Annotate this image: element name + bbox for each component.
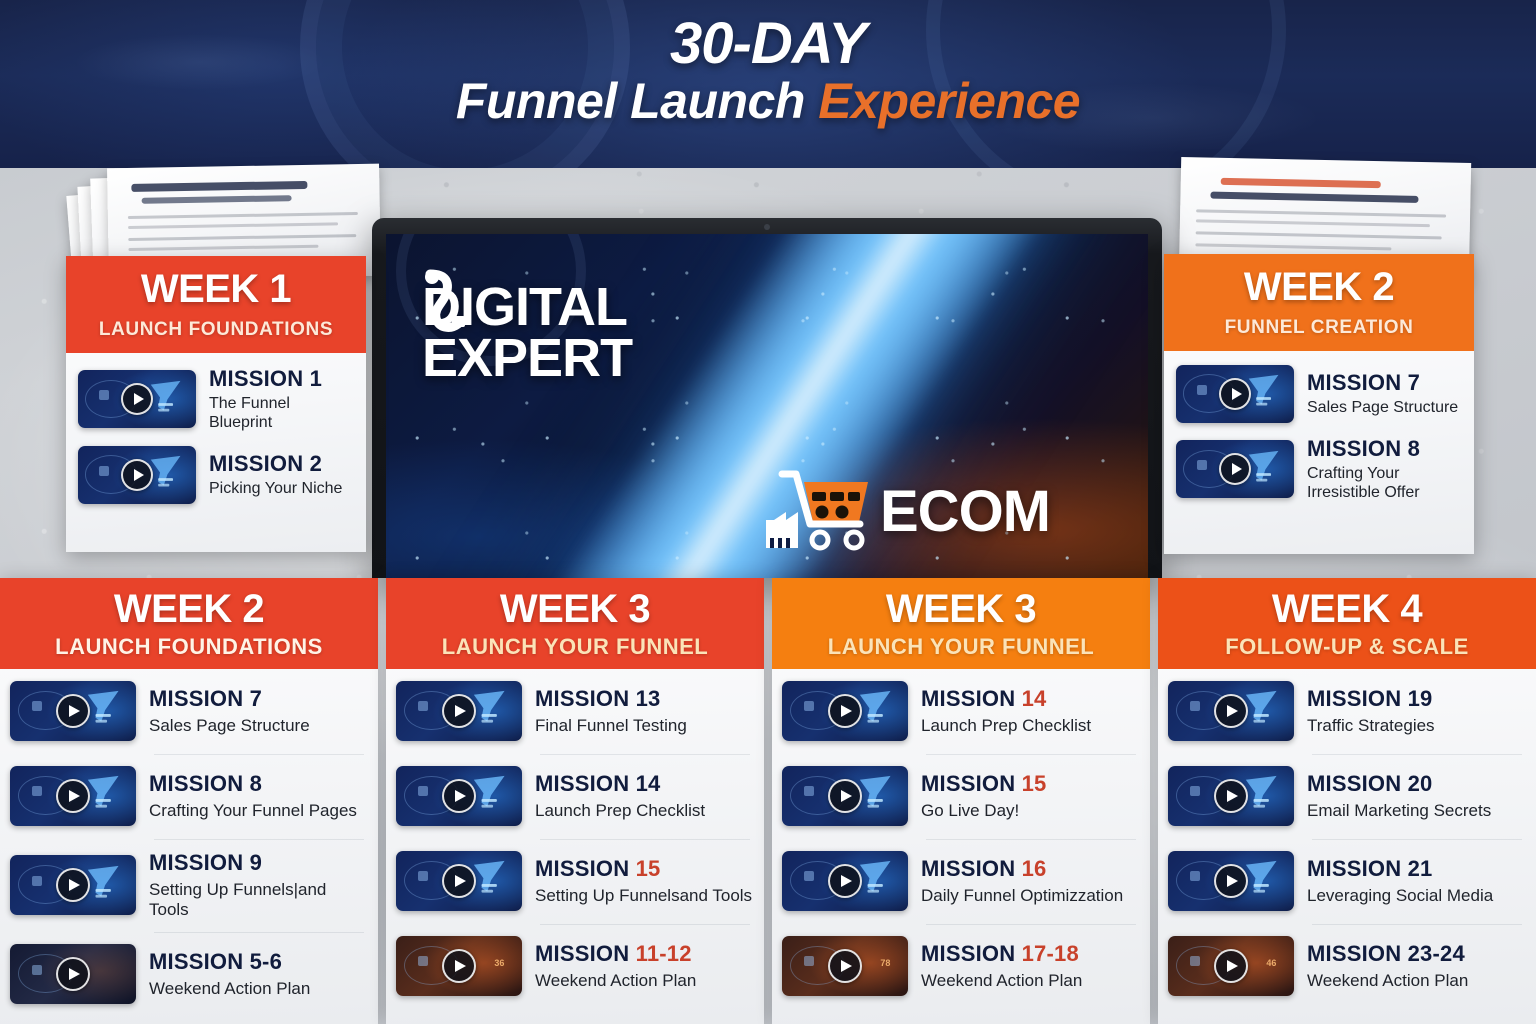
week-card-1-subtitle: LAUNCH FOUNDATIONS	[76, 319, 356, 341]
week-column-4-subtitle: FOLLOW-UP & SCALE	[1166, 636, 1528, 658]
week-column-4-header: WEEK 4FOLLOW-UP & SCALE	[1158, 578, 1536, 669]
mission-title: MISSION 5-6	[149, 950, 368, 974]
mission-subtitle: Setting Up Funnelsand Tools	[535, 886, 754, 906]
mission-thumbnail[interactable]	[1176, 440, 1294, 498]
mission-divider	[540, 924, 750, 925]
mission-subtitle: Email Marketing Secrets	[1307, 801, 1526, 821]
mission-thumbnail[interactable]	[1168, 851, 1294, 911]
mission-label: MISSION	[149, 771, 250, 796]
week-card-2-title: WEEK 2	[1174, 267, 1464, 307]
mission-thumbnail[interactable]	[1168, 681, 1294, 741]
mission-title: MISSION 7	[149, 687, 368, 711]
mission-thumbnail[interactable]	[1168, 766, 1294, 826]
mission-number: 23-24	[1408, 941, 1465, 966]
mission-divider	[926, 924, 1136, 925]
mission-number: 15	[636, 856, 661, 881]
page-subtitle-plain: Funnel Launch	[456, 73, 818, 129]
mission-subtitle: Weekend Action Plan	[149, 979, 368, 999]
mission-number: 9	[250, 850, 262, 875]
week-card-1-missions: MISSION 1 The Funnel Blueprint MISSION 2	[66, 353, 366, 528]
week-column-4-missions: MISSION 19 Traffic Strategies MISSION 20…	[1158, 669, 1536, 1024]
week-card-2-header: WEEK 2 FUNNEL CREATION	[1164, 254, 1474, 351]
mission-label: MISSION	[149, 850, 250, 875]
mission-title: MISSION 8	[1307, 437, 1462, 461]
mission-row[interactable]: MISSION 2 Picking Your Niche	[78, 446, 354, 504]
mission-title: MISSION 14	[535, 772, 754, 796]
mission-row[interactable]: MISSION 7 Sales Page Structure	[1176, 365, 1462, 423]
week-column-1-missions: MISSION 7 Sales Page Structure MISSION 8…	[0, 669, 378, 1024]
digital-expert-hook-logo-icon	[416, 268, 488, 342]
play-icon[interactable]	[1214, 949, 1248, 983]
play-icon[interactable]	[56, 694, 90, 728]
play-icon[interactable]	[1219, 453, 1251, 485]
mission-row[interactable]: MISSION 20 Email Marketing Secrets	[1168, 766, 1526, 826]
mission-number: 8	[250, 771, 262, 796]
play-icon[interactable]	[828, 694, 862, 728]
week-column-3-subtitle: LAUNCH YOUR FUNNEL	[780, 636, 1142, 658]
mission-divider	[1312, 924, 1522, 925]
mission-label: MISSION	[1307, 686, 1408, 711]
week-column-3[interactable]: WEEK 3LAUNCH YOUR FUNNEL MISSION 14 Laun…	[772, 578, 1150, 1024]
mission-divider	[540, 839, 750, 840]
mission-row[interactable]: MISSION 8 Crafting Your Irresistible Off…	[1176, 437, 1462, 502]
play-icon[interactable]	[828, 949, 862, 983]
week-card-2[interactable]: WEEK 2 FUNNEL CREATION MISSION 7 Sales P…	[1164, 254, 1474, 554]
week-column-1-header: WEEK 2LAUNCH FOUNDATIONS	[0, 578, 378, 669]
week-column-2-title: WEEK 3	[394, 589, 756, 629]
mission-divider	[1312, 754, 1522, 755]
mission-subtitle: Final Funnel Testing	[535, 716, 754, 736]
play-icon[interactable]	[56, 868, 90, 902]
week-columns-grid: WEEK 2LAUNCH FOUNDATIONS MISSION 7 Sales…	[0, 578, 1536, 1024]
week-card-2-subtitle: FUNNEL CREATION	[1174, 317, 1464, 339]
mission-row[interactable]: MISSION 13 Final Funnel Testing	[396, 681, 754, 741]
mission-number: 17-18	[1022, 941, 1079, 966]
mission-thumbnail-badge: 78	[880, 958, 890, 968]
mission-title: MISSION 17-18	[921, 942, 1140, 966]
mission-number: 21	[1408, 856, 1433, 881]
mission-subtitle: The Funnel Blueprint	[209, 395, 354, 432]
mission-subtitle: Weekend Action Plan	[921, 971, 1140, 991]
mission-title: MISSION 23-24	[1307, 942, 1526, 966]
mission-label: MISSION	[149, 949, 250, 974]
mission-subtitle: Go Live Day!	[921, 801, 1140, 821]
webcam-icon	[764, 224, 770, 230]
mission-row[interactable]: MISSION 15 Go Live Day!	[782, 766, 1140, 826]
mission-title: MISSION 21	[1307, 857, 1526, 881]
mission-row[interactable]: MISSION 1 The Funnel Blueprint	[78, 367, 354, 432]
mission-number: 13	[636, 686, 661, 711]
page-title: 30-DAY	[0, 14, 1536, 73]
week-column-1[interactable]: WEEK 2LAUNCH FOUNDATIONS MISSION 7 Sales…	[0, 578, 378, 1024]
mission-thumbnail[interactable]	[782, 851, 908, 911]
mission-title: MISSION 13	[535, 687, 754, 711]
mission-thumbnail-badge: 36	[494, 958, 504, 968]
mission-row[interactable]: MISSION 14 Launch Prep Checklist	[782, 681, 1140, 741]
mission-row[interactable]: MISSION 9 Setting Up Funnels|and Tools	[10, 851, 368, 919]
mission-thumbnail[interactable]	[396, 851, 522, 911]
mission-title: MISSION 7	[1307, 371, 1458, 395]
mission-title: MISSION 15	[921, 772, 1140, 796]
mission-label: MISSION	[535, 686, 636, 711]
mission-thumbnail[interactable]	[78, 446, 196, 504]
mission-divider	[926, 839, 1136, 840]
mission-subtitle: Leveraging Social Media	[1307, 886, 1526, 906]
play-icon[interactable]	[1214, 694, 1248, 728]
mission-row[interactable]: MISSION 8 Crafting Your Funnel Pages	[10, 766, 368, 826]
play-icon[interactable]	[121, 383, 153, 415]
week-column-4[interactable]: WEEK 4FOLLOW-UP & SCALE MISSION 19 Traff…	[1158, 578, 1536, 1024]
mission-thumbnail[interactable]	[10, 944, 136, 1004]
play-icon[interactable]	[56, 957, 90, 991]
mission-subtitle: Sales Page Structure	[1307, 399, 1458, 417]
laptop-screen: DIGITAL EXPERT	[386, 234, 1148, 578]
mission-label: MISSION	[1307, 771, 1408, 796]
mission-divider	[154, 754, 364, 755]
mission-number: 11-12	[636, 941, 692, 966]
week-column-4-title: WEEK 4	[1166, 589, 1528, 629]
mission-label: MISSION	[921, 686, 1022, 711]
mission-number: 20	[1408, 771, 1433, 796]
mission-subtitle: Setting Up Funnels|and Tools	[149, 880, 368, 919]
mission-subtitle: Picking Your Niche	[209, 480, 342, 498]
mission-thumbnail[interactable]	[10, 681, 136, 741]
mission-label: MISSION	[535, 856, 636, 881]
week-column-2-subtitle: LAUNCH YOUR FUNNEL	[394, 636, 756, 658]
mission-row[interactable]: 36 MISSION 11-12 Weekend Action Plan	[396, 936, 754, 996]
mission-subtitle: Crafting Your Irresistible Offer	[1307, 465, 1462, 502]
week-card-1-header: WEEK 1 LAUNCH FOUNDATIONS	[66, 256, 366, 353]
week-column-2-header: WEEK 3LAUNCH YOUR FUNNEL	[386, 578, 764, 669]
mission-divider	[1312, 839, 1522, 840]
mission-number: 14	[636, 771, 661, 796]
week-column-2-missions: MISSION 13 Final Funnel Testing MISSION …	[386, 669, 764, 1024]
mission-row[interactable]: MISSION 21 Leveraging Social Media	[1168, 851, 1526, 911]
play-icon[interactable]	[442, 779, 476, 813]
laptop-mockup: DIGITAL EXPERT	[372, 218, 1162, 578]
week-column-1-title: WEEK 2	[8, 589, 370, 629]
mission-row[interactable]: 46 MISSION 23-24 Weekend Action Plan	[1168, 936, 1526, 996]
mission-thumbnail[interactable]	[78, 370, 196, 428]
page-subtitle-accent: Experience	[818, 73, 1080, 129]
mission-row[interactable]: MISSION 16 Daily Funnel Optimizzation	[782, 851, 1140, 911]
mission-title: MISSION 14	[921, 687, 1140, 711]
mission-row[interactable]: MISSION 5-6 Weekend Action Plan	[10, 944, 368, 1004]
week-card-1-title: WEEK 1	[76, 269, 356, 309]
week-column-1-subtitle: LAUNCH FOUNDATIONS	[8, 636, 370, 658]
mission-title: MISSION 15	[535, 857, 754, 881]
mission-thumbnail[interactable]: 46	[1168, 936, 1294, 996]
ecom-brand: ECOM	[764, 468, 1050, 554]
mission-number: 5-6	[250, 949, 282, 974]
play-icon[interactable]	[1214, 864, 1248, 898]
mission-thumbnail[interactable]: 78	[782, 936, 908, 996]
mission-row[interactable]: MISSION 14 Launch Prep Checklist	[396, 766, 754, 826]
mission-title: MISSION 9	[149, 851, 368, 875]
week-column-2[interactable]: WEEK 3LAUNCH YOUR FUNNEL MISSION 13 Fina…	[386, 578, 764, 1024]
play-icon[interactable]	[1219, 378, 1251, 410]
week-column-3-missions: MISSION 14 Launch Prep Checklist MISSION…	[772, 669, 1150, 1024]
shopping-cart-icon	[764, 468, 874, 554]
mission-thumbnail[interactable]	[782, 681, 908, 741]
mission-title: MISSION 19	[1307, 687, 1526, 711]
mission-row[interactable]: MISSION 7 Sales Page Structure	[10, 681, 368, 741]
mission-thumbnail[interactable]	[396, 681, 522, 741]
mission-title: MISSION 11-12	[535, 942, 754, 966]
mission-thumbnail[interactable]	[10, 855, 136, 915]
mission-thumbnail[interactable]	[1176, 365, 1294, 423]
digital-expert-brand: DIGITAL EXPERT	[422, 282, 632, 385]
week-card-2-missions: MISSION 7 Sales Page Structure MISSION 8	[1164, 351, 1474, 526]
mission-label: MISSION	[1307, 856, 1408, 881]
play-icon[interactable]	[442, 694, 476, 728]
play-icon[interactable]	[442, 864, 476, 898]
mission-divider	[540, 754, 750, 755]
mission-divider	[154, 932, 364, 933]
mission-number: 15	[1022, 771, 1047, 796]
mission-label: MISSION	[921, 941, 1022, 966]
mission-label: MISSION	[921, 771, 1022, 796]
ecom-label: ECOM	[880, 478, 1050, 545]
week-card-1[interactable]: WEEK 1 LAUNCH FOUNDATIONS MISSION 1 The …	[66, 256, 366, 552]
mission-number: 16	[1022, 856, 1047, 881]
mission-subtitle: Sales Page Structure	[149, 716, 368, 736]
mission-number: 14	[1022, 686, 1047, 711]
mission-subtitle: Daily Funnel Optimizzation	[921, 886, 1140, 906]
mission-label: MISSION	[921, 856, 1022, 881]
mission-subtitle: Launch Prep Checklist	[921, 716, 1140, 736]
week-column-3-title: WEEK 3	[780, 589, 1142, 629]
page-subtitle: Funnel Launch Experience	[0, 73, 1536, 130]
header-banner: 30-DAY Funnel Launch Experience	[0, 0, 1536, 168]
mission-title: MISSION 16	[921, 857, 1140, 881]
play-icon[interactable]	[828, 864, 862, 898]
play-icon[interactable]	[56, 779, 90, 813]
poster-canvas: 30-DAY Funnel Launch Experience	[0, 0, 1536, 1024]
mission-number: 7	[250, 686, 262, 711]
mission-subtitle: Weekend Action Plan	[535, 971, 754, 991]
mission-subtitle: Weekend Action Plan	[1307, 971, 1526, 991]
mission-divider	[926, 754, 1136, 755]
mission-title: MISSION 20	[1307, 772, 1526, 796]
mission-subtitle: Crafting Your Funnel Pages	[149, 801, 368, 821]
mission-subtitle: Launch Prep Checklist	[535, 801, 754, 821]
mission-thumbnail[interactable]	[782, 766, 908, 826]
mission-label: MISSION	[1307, 941, 1408, 966]
week-column-3-header: WEEK 3LAUNCH YOUR FUNNEL	[772, 578, 1150, 669]
play-icon[interactable]	[121, 459, 153, 491]
play-icon[interactable]	[442, 949, 476, 983]
mission-thumbnail[interactable]	[396, 766, 522, 826]
mission-row[interactable]: MISSION 19 Traffic Strategies	[1168, 681, 1526, 741]
mission-row[interactable]: 78 MISSION 17-18 Weekend Action Plan	[782, 936, 1140, 996]
mission-label: MISSION	[535, 771, 636, 796]
mission-title: MISSION 1	[209, 367, 354, 391]
mission-label: MISSION	[535, 941, 636, 966]
mission-number: 19	[1408, 686, 1433, 711]
mission-label: MISSION	[149, 686, 250, 711]
mission-thumbnail-badge: 46	[1266, 958, 1276, 968]
mission-subtitle: Traffic Strategies	[1307, 716, 1526, 736]
mission-thumbnail[interactable]	[10, 766, 136, 826]
mission-title: MISSION 2	[209, 452, 342, 476]
mission-row[interactable]: MISSION 15 Setting Up Funnelsand Tools	[396, 851, 754, 911]
mission-thumbnail[interactable]: 36	[396, 936, 522, 996]
play-icon[interactable]	[828, 779, 862, 813]
mission-divider	[154, 839, 364, 840]
play-icon[interactable]	[1214, 779, 1248, 813]
mission-title: MISSION 8	[149, 772, 368, 796]
